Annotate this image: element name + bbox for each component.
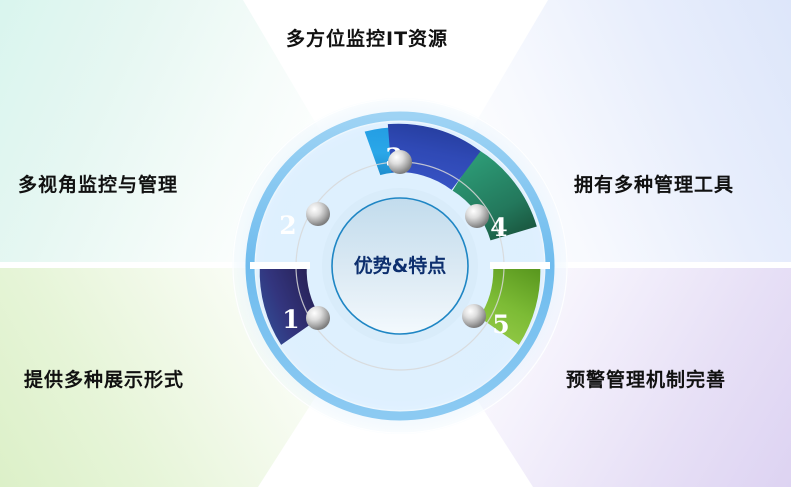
center-label: 优势&特点	[330, 248, 470, 284]
label-right-top: 拥有多种管理工具	[574, 170, 734, 197]
label-top: 多方位监控IT资源	[286, 24, 448, 51]
segment-4-number: 4	[490, 213, 507, 242]
label-left-bottom: 提供多种展示形式	[24, 365, 184, 392]
marker-ball-3[interactable]	[388, 150, 412, 174]
segment-1-number: 1	[282, 305, 299, 334]
label-right-bottom: 预警管理机制完善	[566, 365, 726, 392]
marker-ball-1[interactable]	[306, 306, 330, 330]
segment-5-number: 5	[492, 310, 509, 339]
marker-ball-2[interactable]	[306, 202, 330, 226]
band-split-right	[490, 262, 550, 269]
band-split-left	[250, 262, 310, 269]
marker-ball-4[interactable]	[465, 204, 489, 228]
radial-donut-chart: 1 2 3 4 5 优势&特点	[230, 96, 570, 436]
label-left-top: 多视角监控与管理	[18, 170, 178, 197]
marker-ball-5[interactable]	[462, 304, 486, 328]
segment-2-number: 2	[279, 211, 296, 240]
diagram-canvas: 1 2 3 4 5 优势&特点 多方位监控IT资源 多视角监控与管理 提供多种展…	[0, 0, 791, 487]
